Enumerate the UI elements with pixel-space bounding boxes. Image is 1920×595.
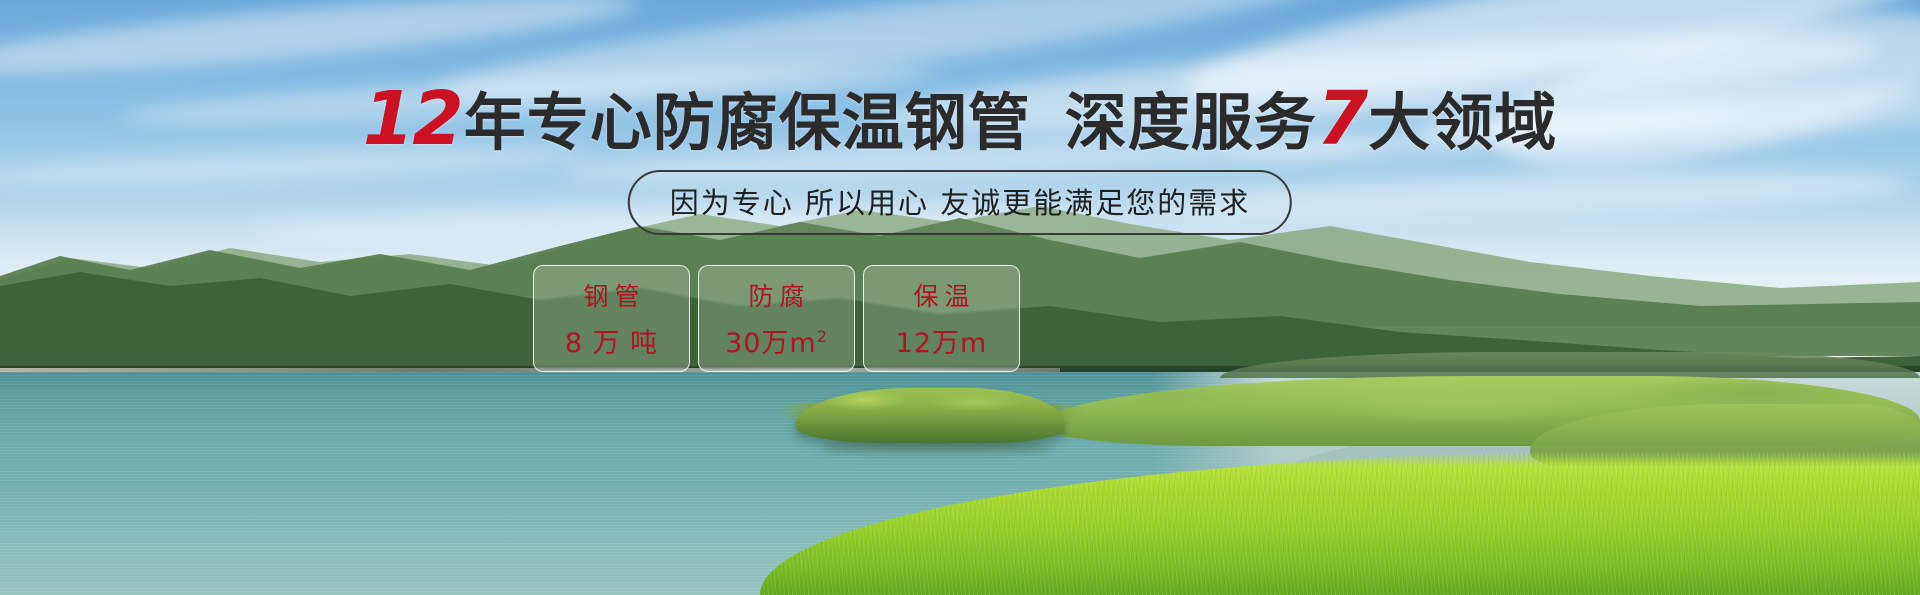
headline-text-tertiary: 大领域 xyxy=(1368,86,1557,159)
headline-years-number: 12 xyxy=(363,76,464,162)
stat-card-value-text: 12万m xyxy=(896,328,988,359)
stat-card-steel-pipe[interactable]: 钢管 8 万 吨 xyxy=(533,265,690,372)
stat-card-anticorrosion[interactable]: 防腐 30万m2 xyxy=(698,265,855,372)
stat-card-value-text: 30万m xyxy=(725,328,817,359)
headline: 12年专心防腐保温钢管深度服务7大领域 xyxy=(0,82,1920,156)
headline-text-secondary: 深度服务 xyxy=(1065,86,1317,159)
stat-card-value: 8 万 吨 xyxy=(565,321,658,360)
subtitle-pill: 因为专心 所以用心 友诚更能满足您的需求 xyxy=(628,170,1292,235)
stat-card-group: 钢管 8 万 吨 防腐 30万m2 保温 12万m xyxy=(533,265,1020,372)
headline-text-primary: 年专心防腐保温钢管 xyxy=(464,86,1031,159)
stat-card-title: 钢管 xyxy=(577,277,645,313)
stat-card-insulation[interactable]: 保温 12万m xyxy=(863,265,1020,372)
stat-card-title: 保温 xyxy=(907,277,975,313)
hero-banner: 12年专心防腐保温钢管深度服务7大领域 因为专心 所以用心 友诚更能满足您的需求… xyxy=(0,0,1920,595)
stat-card-title: 防腐 xyxy=(742,277,810,313)
stat-card-value-exponent: 2 xyxy=(817,327,828,346)
stat-card-value: 30万m2 xyxy=(725,321,828,360)
stat-card-value-text: 8 万 吨 xyxy=(565,328,658,359)
headline-fields-number: 7 xyxy=(1317,76,1369,162)
stat-card-value: 12万m xyxy=(896,321,988,360)
banner-content: 12年专心防腐保温钢管深度服务7大领域 因为专心 所以用心 友诚更能满足您的需求… xyxy=(0,0,1920,595)
